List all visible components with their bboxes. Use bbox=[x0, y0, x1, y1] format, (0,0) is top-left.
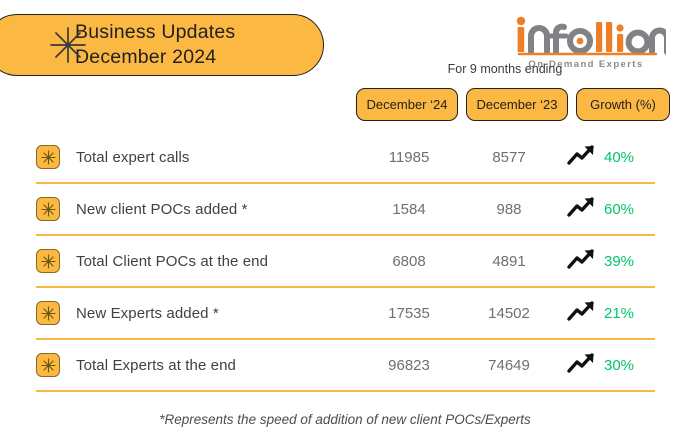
footnote: *Represents the speed of addition of new… bbox=[0, 412, 690, 427]
row-divider bbox=[36, 390, 655, 392]
column-header-december-23: December ‘23 bbox=[466, 88, 568, 121]
cell-current: 11985 bbox=[359, 149, 459, 166]
trending-up-icon bbox=[567, 248, 597, 275]
row-label: New client POCs added * bbox=[76, 201, 359, 218]
growth-value: 39% bbox=[604, 253, 634, 270]
cell-previous: 14502 bbox=[459, 305, 559, 322]
trending-up-icon bbox=[567, 196, 597, 223]
growth-value: 30% bbox=[604, 357, 634, 374]
column-header-row: December ‘24 December ‘23 Growth (%) bbox=[356, 88, 670, 121]
trending-up-icon bbox=[567, 300, 597, 327]
metrics-table: Total expert calls 11985 8577 40% bbox=[0, 132, 690, 392]
starburst-icon bbox=[36, 353, 60, 377]
cell-growth: 60% bbox=[559, 196, 655, 223]
cell-growth: 21% bbox=[559, 300, 655, 327]
starburst-icon bbox=[36, 197, 60, 221]
row-label: Total Client POCs at the end bbox=[76, 253, 359, 270]
cell-current: 1584 bbox=[359, 201, 459, 218]
starburst-icon bbox=[49, 26, 87, 64]
growth-value: 40% bbox=[604, 149, 634, 166]
cell-current: 96823 bbox=[359, 357, 459, 374]
row-label: New Experts added * bbox=[76, 305, 359, 322]
table-row: New Experts added * 17535 14502 21% bbox=[0, 288, 690, 338]
cell-previous: 8577 bbox=[459, 149, 559, 166]
header-banner: Business Updates December 2024 bbox=[0, 14, 324, 76]
column-header-growth: Growth (%) bbox=[576, 88, 670, 121]
row-label: Total Experts at the end bbox=[76, 357, 359, 374]
cell-current: 17535 bbox=[359, 305, 459, 322]
table-row: New client POCs added * 1584 988 60% bbox=[0, 184, 690, 234]
column-header-december-24: December ‘24 bbox=[356, 88, 458, 121]
cell-current: 6808 bbox=[359, 253, 459, 270]
period-note: For 9 months ending bbox=[380, 62, 630, 76]
cell-previous: 988 bbox=[459, 201, 559, 218]
growth-value: 21% bbox=[604, 305, 634, 322]
trending-up-icon bbox=[567, 144, 597, 171]
growth-value: 60% bbox=[604, 201, 634, 218]
cell-growth: 30% bbox=[559, 352, 655, 379]
table-row: Total Client POCs at the end 6808 4891 3… bbox=[0, 236, 690, 286]
table-row: Total expert calls 11985 8577 40% bbox=[0, 132, 690, 182]
starburst-icon bbox=[36, 301, 60, 325]
page-title: Business Updates December 2024 bbox=[75, 20, 235, 70]
row-label: Total expert calls bbox=[76, 149, 359, 166]
cell-previous: 4891 bbox=[459, 253, 559, 270]
trending-up-icon bbox=[567, 352, 597, 379]
cell-previous: 74649 bbox=[459, 357, 559, 374]
starburst-icon bbox=[36, 249, 60, 273]
cell-growth: 40% bbox=[559, 144, 655, 171]
table-row: Total Experts at the end 96823 74649 30% bbox=[0, 340, 690, 390]
cell-growth: 39% bbox=[559, 248, 655, 275]
starburst-icon bbox=[36, 145, 60, 169]
logo-wordmark-icon bbox=[506, 14, 666, 63]
